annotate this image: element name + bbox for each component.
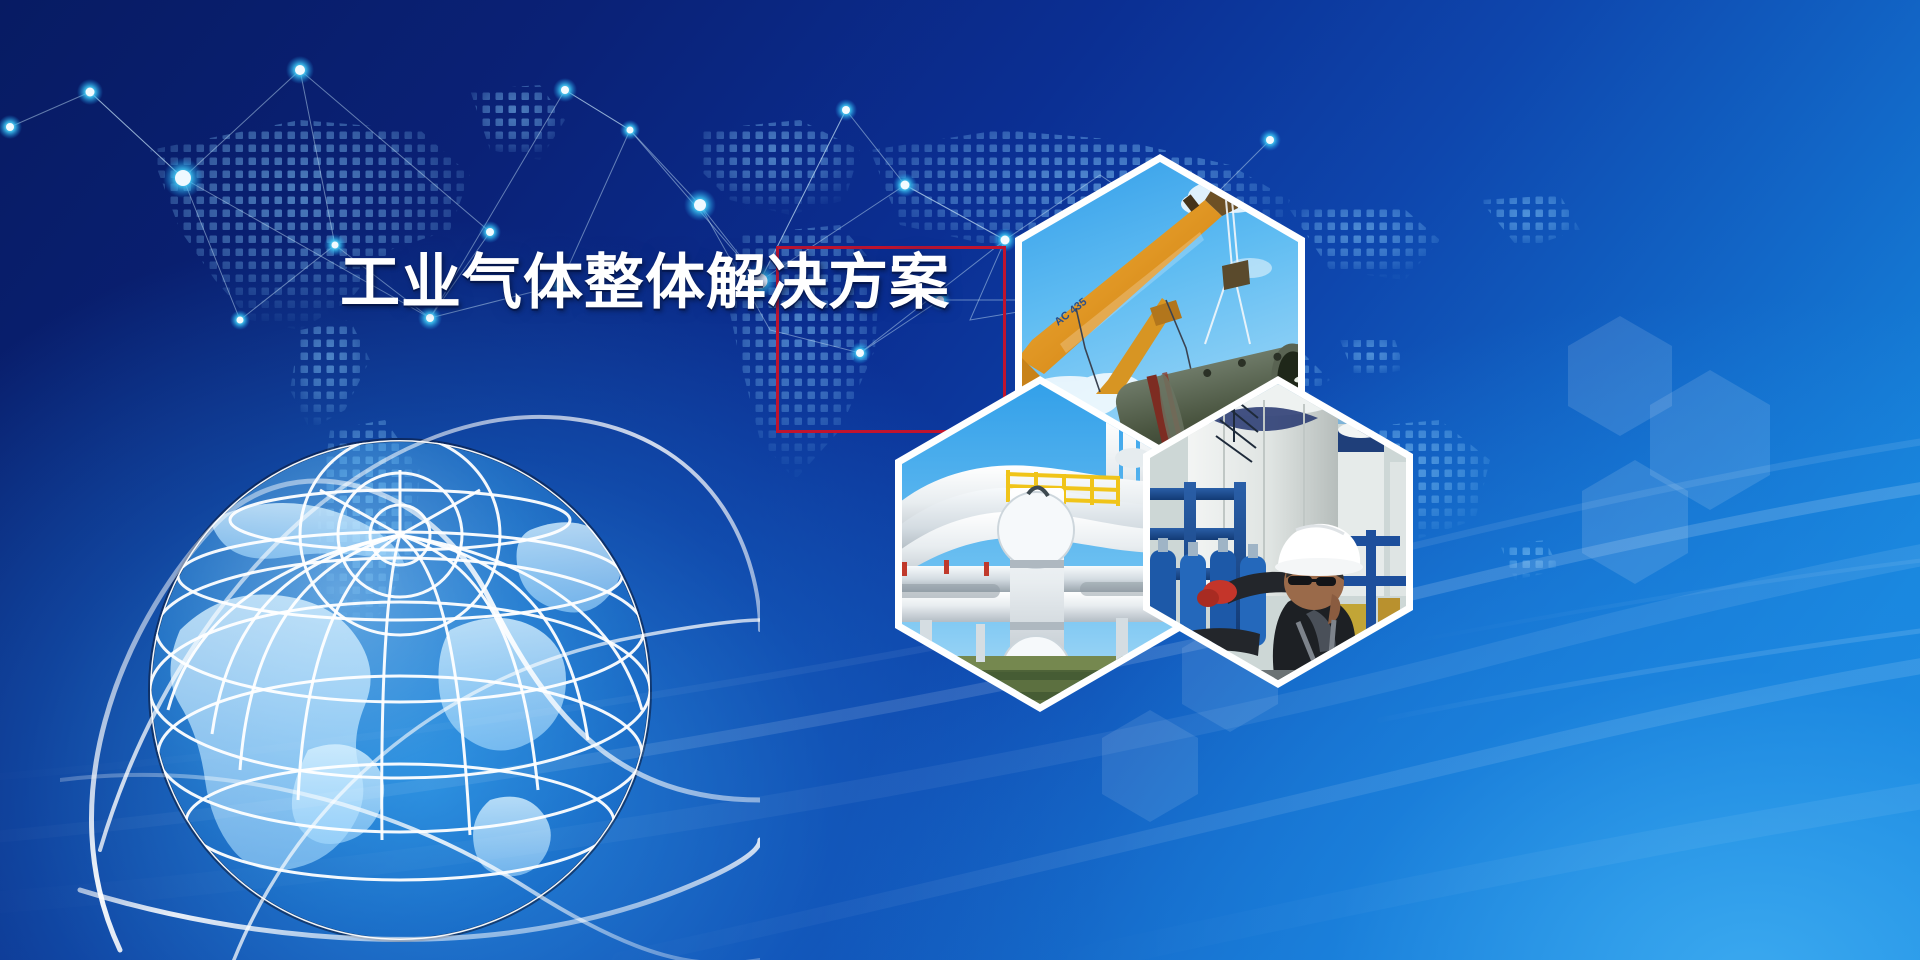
page-title: 工业气体整体解决方案 [340, 252, 950, 314]
banner-stage: 工业气体整体解决方案 [0, 0, 1920, 960]
banner-title-text: 工业气体整体解决方案 [340, 252, 950, 314]
hex-photo-engineer-cylinders[interactable] [1128, 370, 1428, 710]
